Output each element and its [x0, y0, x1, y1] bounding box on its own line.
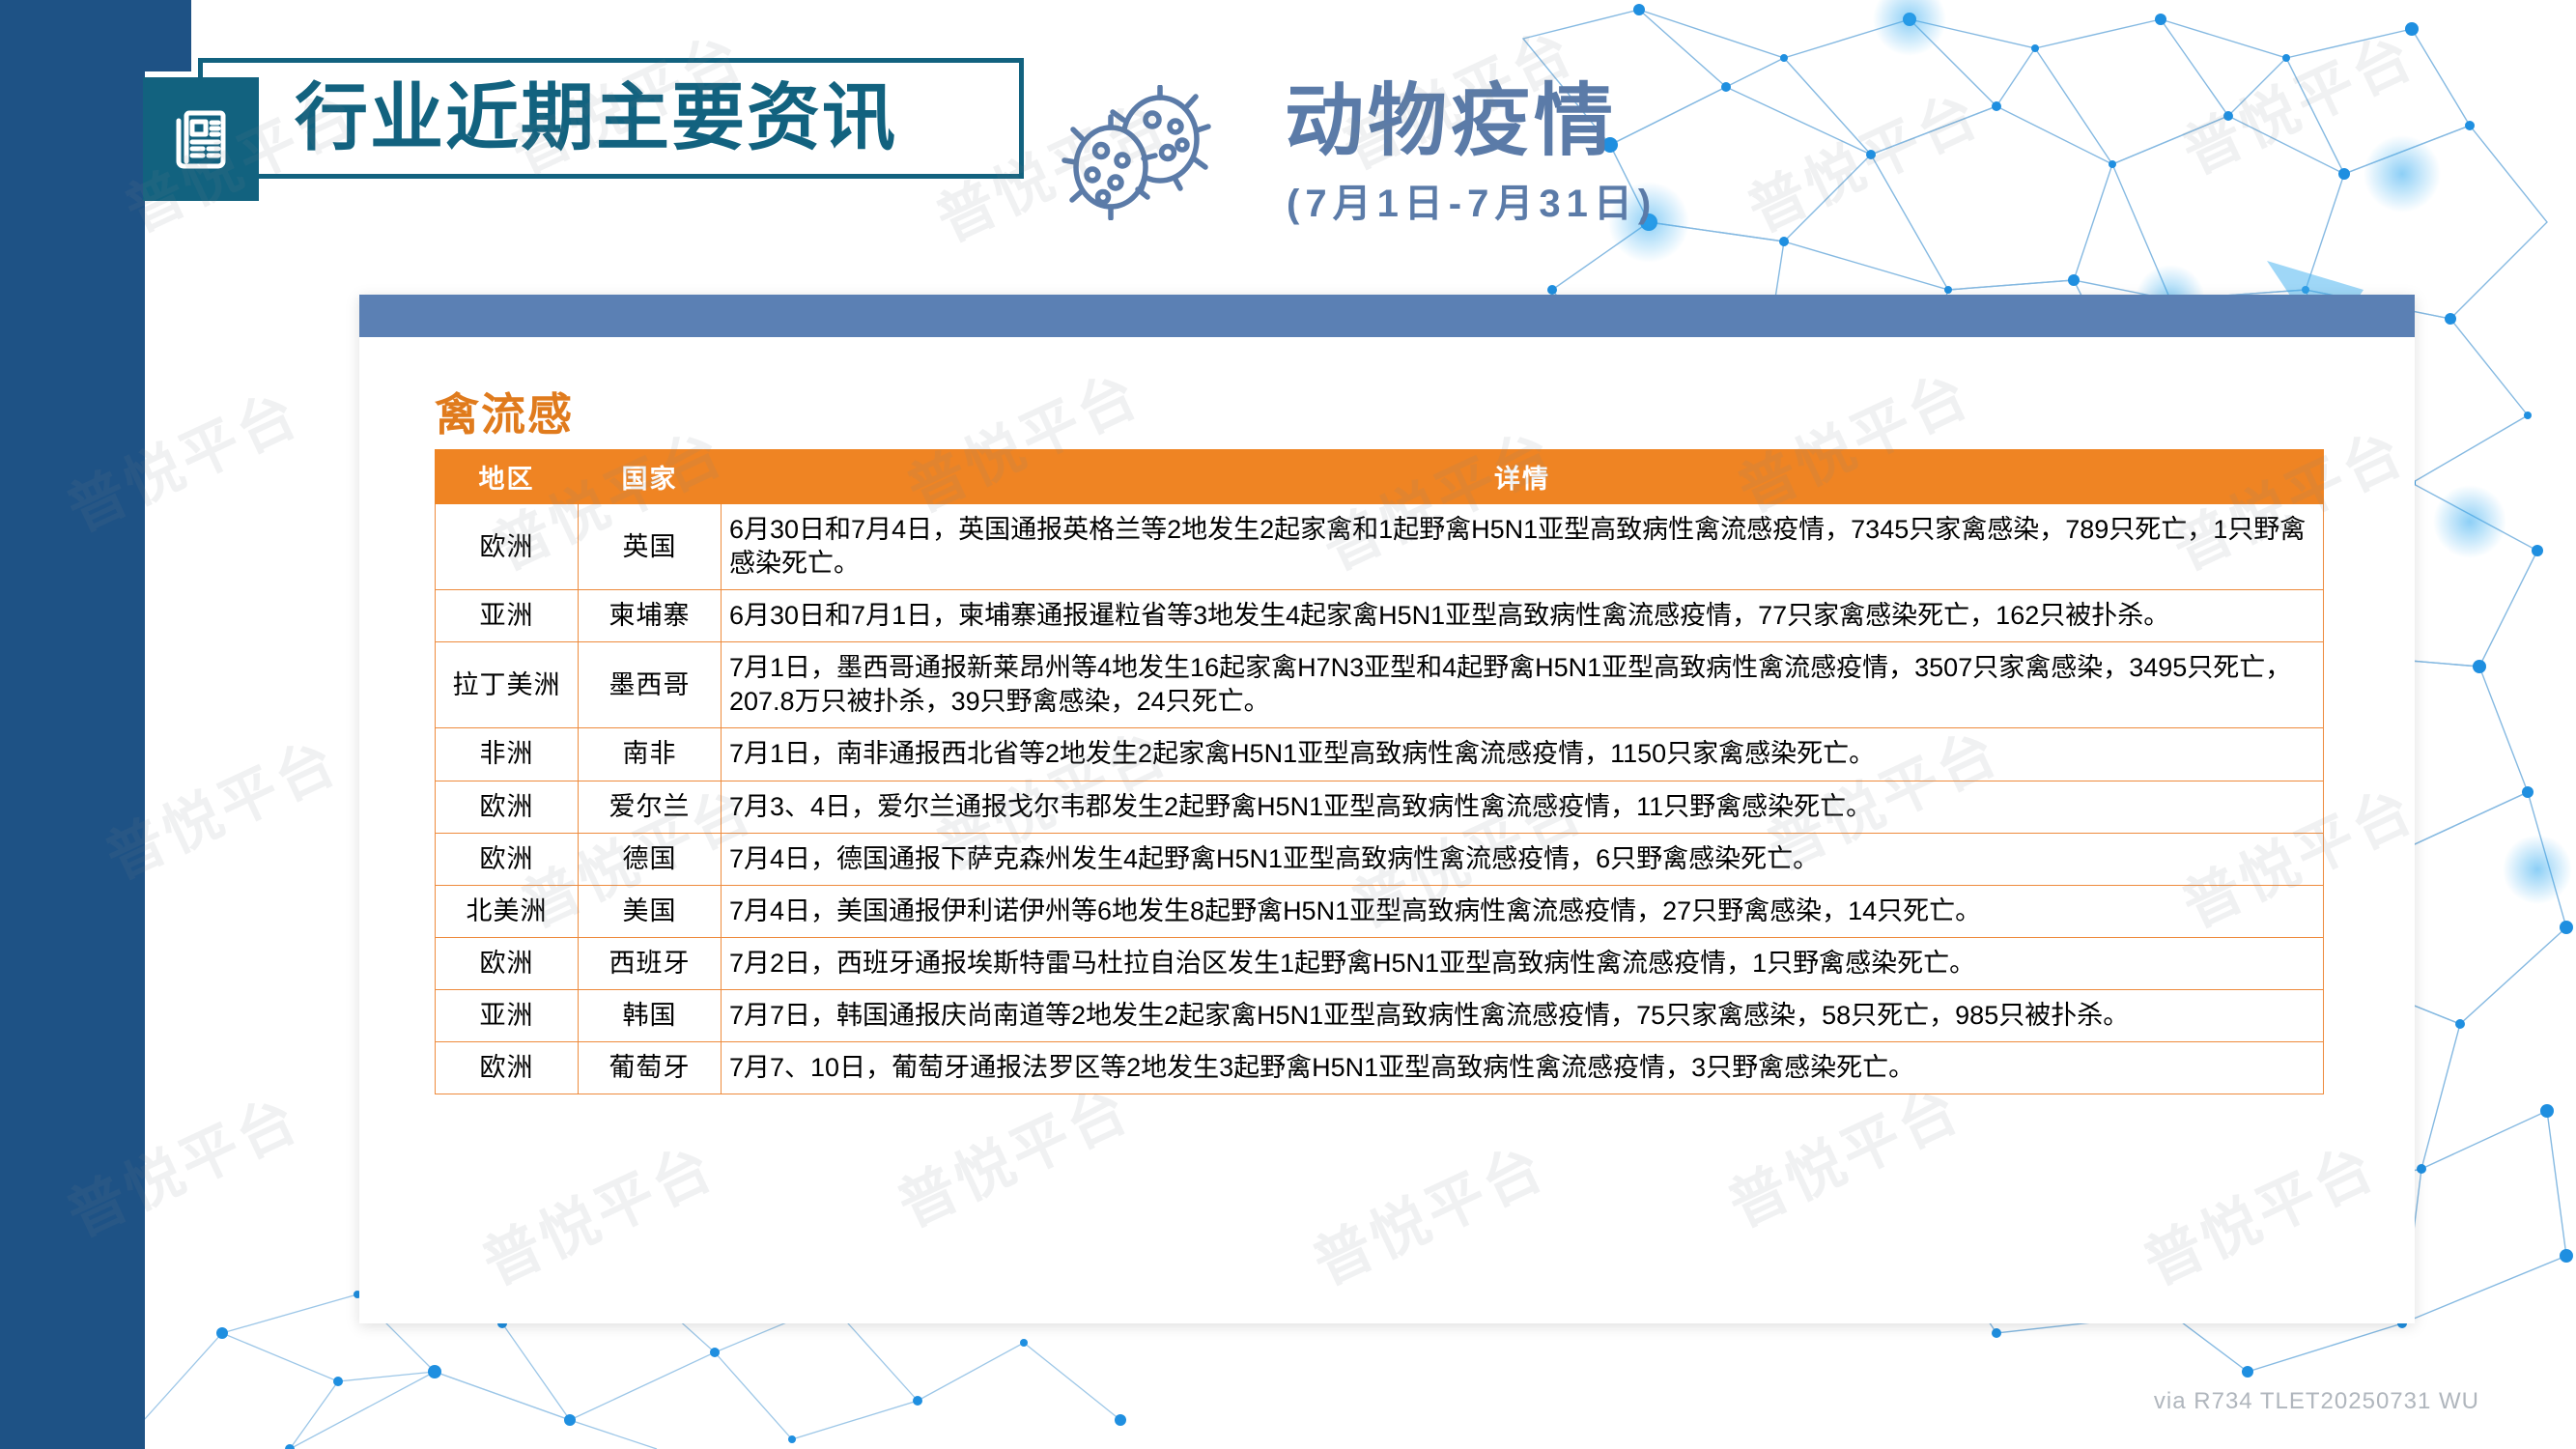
cell-region: 亚洲 [436, 989, 579, 1041]
watermark-text: 普悦平台 [2167, 10, 2427, 190]
cell-region: 亚洲 [436, 590, 579, 642]
table-row: 亚洲柬埔寨6月30日和7月1日，柬埔寨通报暹粒省等3地发生4起家禽H5N1亚型高… [436, 590, 2324, 642]
table-header-row: 地区 国家 详情 [436, 450, 2324, 504]
cell-country: 英国 [579, 504, 722, 590]
cell-region: 欧洲 [436, 1042, 579, 1094]
cell-country: 德国 [579, 833, 722, 885]
column-header-country: 国家 [579, 450, 722, 504]
cell-country: 柬埔寨 [579, 590, 722, 642]
cell-detail: 7月1日，墨西哥通报新莱昂州等4地发生16起家禽H7N3亚型和4起野禽H5N1亚… [722, 642, 2324, 728]
sidebar-notch [145, 0, 191, 71]
table-row: 非洲南非7月1日，南非通报西北省等2地发生2起家禽H5N1亚型高致病性禽流感疫情… [436, 728, 2324, 781]
cell-region: 北美洲 [436, 885, 579, 937]
card-top-bar [359, 295, 2415, 337]
table-row: 欧洲西班牙7月2日，西班牙通报埃斯特雷马杜拉自治区发生1起野禽H5N1亚型高致病… [436, 937, 2324, 989]
cell-detail: 7月7、10日，葡萄牙通报法罗区等2地发生3起野禽H5N1亚型高致病性禽流感疫情… [722, 1042, 2324, 1094]
cell-detail: 7月1日，南非通报西北省等2地发生2起家禽H5N1亚型高致病性禽流感疫情，115… [722, 728, 2324, 781]
table-row: 欧洲爱尔兰7月3、4日，爱尔兰通报戈尔韦郡发生2起野禽H5N1亚型高致病性禽流感… [436, 781, 2324, 833]
table-container: 地区 国家 详情 欧洲英国6月30日和7月4日，英国通报英格兰等2地发生2起家禽… [435, 449, 2323, 1094]
table-row: 欧洲葡萄牙7月7、10日，葡萄牙通报法罗区等2地发生3起野禽H5N1亚型高致病性… [436, 1042, 2324, 1094]
subject-date-range: (7月1日-7月31日) [1287, 172, 1656, 228]
cell-region: 欧洲 [436, 937, 579, 989]
avian-influenza-table: 地区 国家 详情 欧洲英国6月30日和7月4日，英国通报英格兰等2地发生2起家禽… [435, 449, 2324, 1094]
table-row: 欧洲英国6月30日和7月4日，英国通报英格兰等2地发生2起家禽和1起野禽H5N1… [436, 504, 2324, 590]
column-header-region: 地区 [436, 450, 579, 504]
left-sidebar: DATA STATISTICS REPORT [0, 0, 145, 1449]
column-header-detail: 详情 [722, 450, 2324, 504]
virus-icon [1061, 85, 1225, 220]
cell-detail: 7月3、4日，爱尔兰通报戈尔韦郡发生2起野禽H5N1亚型高致病性禽流感疫情，11… [722, 781, 2324, 833]
table-row: 亚洲韩国7月7日，韩国通报庆尚南道等2地发生2起家禽H5N1亚型高致病性禽流感疫… [436, 989, 2324, 1041]
cell-country: 美国 [579, 885, 722, 937]
cell-country: 西班牙 [579, 937, 722, 989]
content-card: 禽流感 地区 国家 详情 欧洲英国6月30日和7月4日，英国通报英格兰等2地发生… [359, 295, 2415, 1323]
cell-region: 欧洲 [436, 833, 579, 885]
cell-region: 欧洲 [436, 504, 579, 590]
watermark-text: 普悦平台 [1733, 68, 1993, 248]
slide-page: DATA STATISTICS REPORT 行业近期主要资讯 [0, 0, 2576, 1449]
cell-region: 拉丁美洲 [436, 642, 579, 728]
table-row: 北美洲美国7月4日，美国通报伊利诺伊州等6地发生8起野禽H5N1亚型高致病性禽流… [436, 885, 2324, 937]
sidebar-vertical-title: DATA STATISTICS REPORT [119, 0, 145, 1212]
table-row: 拉丁美洲墨西哥7月1日，墨西哥通报新莱昂州等4地发生16起家禽H7N3亚型和4起… [436, 642, 2324, 728]
cell-region: 欧洲 [436, 781, 579, 833]
cell-detail: 6月30日和7月1日，柬埔寨通报暹粒省等3地发生4起家禽H5N1亚型高致病性禽流… [722, 590, 2324, 642]
newspaper-icon [163, 101, 239, 177]
cell-detail: 7月4日，德国通报下萨克森州发生4起野禽H5N1亚型高致病性禽流感疫情，6只野禽… [722, 833, 2324, 885]
footer-credit: via R734 TLET20250731 WU [2154, 1388, 2479, 1415]
table-row: 欧洲德国7月4日，德国通报下萨克森州发生4起野禽H5N1亚型高致病性禽流感疫情，… [436, 833, 2324, 885]
page-title: 行业近期主要资讯 [295, 66, 897, 172]
cell-country: 葡萄牙 [579, 1042, 722, 1094]
cell-country: 韩国 [579, 989, 722, 1041]
cell-detail: 7月4日，美国通报伊利诺伊州等6地发生8起野禽H5N1亚型高致病性禽流感疫情，2… [722, 885, 2324, 937]
table-body: 欧洲英国6月30日和7月4日，英国通报英格兰等2地发生2起家禽和1起野禽H5N1… [436, 504, 2324, 1094]
cell-country: 墨西哥 [579, 642, 722, 728]
cell-detail: 7月2日，西班牙通报埃斯特雷马杜拉自治区发生1起野禽H5N1亚型高致病性禽流感疫… [722, 937, 2324, 989]
cell-detail: 7月7日，韩国通报庆尚南道等2地发生2起家禽H5N1亚型高致病性禽流感疫情，75… [722, 989, 2324, 1041]
subject-title: 动物疫情 [1285, 75, 1617, 167]
cell-detail: 6月30日和7月4日，英国通报英格兰等2地发生2起家禽和1起野禽H5N1亚型高致… [722, 504, 2324, 590]
cell-region: 非洲 [436, 728, 579, 781]
cell-country: 南非 [579, 728, 722, 781]
cell-country: 爱尔兰 [579, 781, 722, 833]
section-title: 禽流感 [435, 380, 574, 443]
newspaper-icon-box [143, 77, 259, 201]
